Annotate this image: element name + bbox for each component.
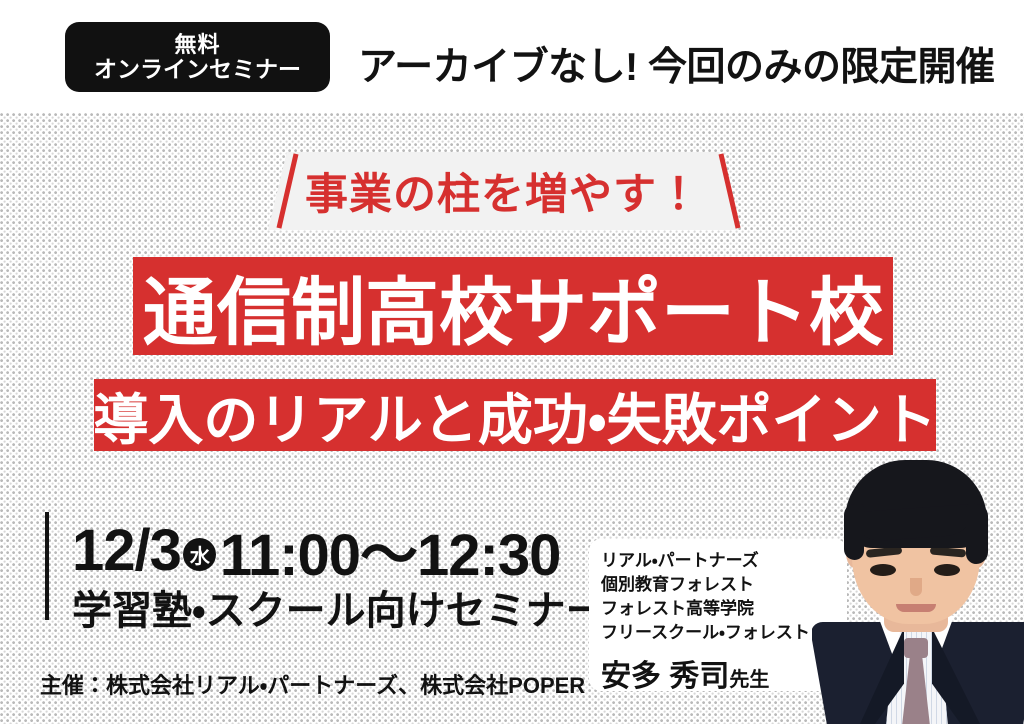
speaker-card: リアル・パートナーズ 個別教育フォレスト フォレスト高等学院 フリースクール・フ… [589,539,847,691]
portrait-eye-right [934,564,960,576]
portrait-hair-side-left [844,504,864,560]
speaker-affiliation-3: フォレスト高等学院 [601,597,847,621]
badge-line-2: オンラインセミナー [94,57,301,81]
badge-line-1: 無料 [174,33,220,56]
portrait-nose [910,578,922,596]
speaker-name: 安多 秀司 [601,660,729,693]
seminar-poster: 無料 オンラインセミナー アーカイブなし! 今回のみの限定開催 事業の柱を増やす… [0,0,1024,724]
free-online-seminar-badge: 無料 オンラインセミナー [65,22,330,92]
speaker-affiliation-1: リアル・パートナーズ [601,549,847,573]
date-accent-rule [45,512,49,620]
speaker-name-row: 安多 秀司先生 [601,651,847,695]
title-bar-primary: 通信制高校サポート校 [133,257,893,355]
portrait-mouth [896,604,936,612]
header-tagline: アーカイブなし! 今回のみの限定開催 [358,36,994,92]
speaker-portrait-photo [812,452,1024,724]
schedule-date: 12/3 [72,517,181,584]
portrait-eye-left [870,564,896,576]
kicker-text: 事業の柱を増やす！ [268,152,738,230]
kicker-strip: 事業の柱を増やす！ [268,152,738,230]
portrait-hair-side-right [966,504,988,564]
title-bar-secondary: 導入のリアルと成功・失敗ポイント [94,379,936,451]
speaker-affiliation-2: 個別教育フォレスト [601,573,847,597]
speaker-honorific: 先生 [729,669,769,691]
speaker-affiliation-4: フリースクール・フォレスト [601,621,847,645]
portrait-tie-knot [904,638,928,658]
target-audience-label: 学習塾・スクール向けセミナー [72,578,606,636]
day-of-week-circle-icon: 水 [183,538,216,571]
organizer-label: 主催：株式会社リアル・パートナーズ、株式会社POPER [40,668,585,700]
header-band: 無料 オンラインセミナー アーカイブなし! 今回のみの限定開催 [0,0,1024,113]
